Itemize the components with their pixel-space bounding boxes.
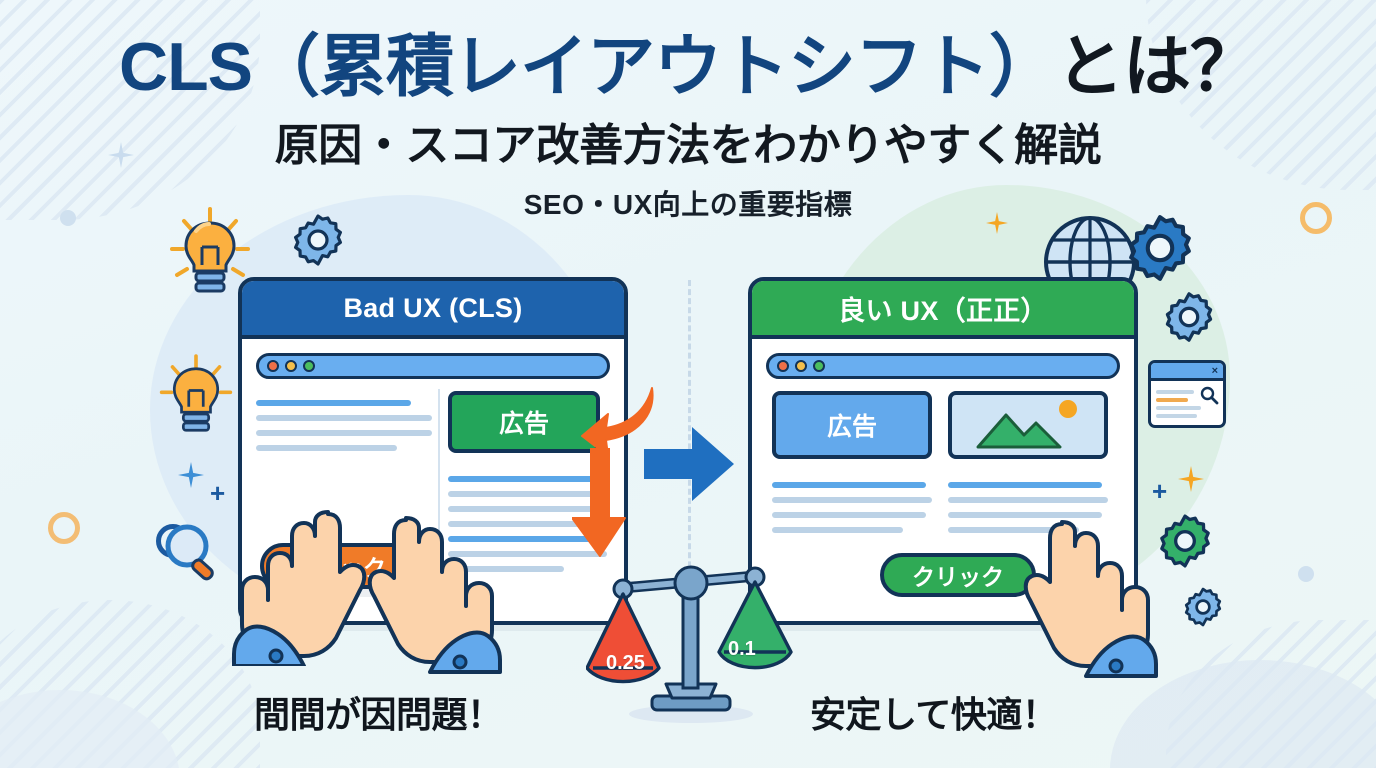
title-block: CLS（累積レイアウトシフト）とは？ 原因・スコア改善方法をわかりやすく解説 S… xyxy=(0,0,1376,223)
hand-pointer-icon xyxy=(1008,520,1158,685)
plus-icon: + xyxy=(1152,476,1167,507)
bad-ux-caption: 間間が因問題！ xyxy=(254,686,503,738)
lightbulb-icon xyxy=(158,352,234,443)
decor-ring-orange-bottom-left xyxy=(48,512,80,544)
text-line xyxy=(948,497,1108,503)
gear-icon xyxy=(1182,586,1224,633)
decor-dot-right xyxy=(1298,566,1314,582)
gear-icon xyxy=(1156,512,1214,575)
popup-text-line xyxy=(1156,390,1194,394)
plus-icon: + xyxy=(210,478,225,509)
window-maximize-dot-icon[interactable] xyxy=(303,360,315,372)
cls-bad-score: 0.25 xyxy=(606,652,645,675)
text-line xyxy=(256,415,432,421)
text-line xyxy=(772,497,932,503)
window-minimize-dot-icon[interactable] xyxy=(285,360,297,372)
hand-pointer-icon xyxy=(352,516,502,681)
popup-text-line xyxy=(1156,398,1188,402)
text-line xyxy=(948,482,1102,488)
gear-icon xyxy=(1124,212,1196,289)
ad-box-blue: 広告 xyxy=(772,391,932,459)
text-line xyxy=(772,512,926,518)
popup-titlebar: × xyxy=(1151,363,1223,381)
browser-urlbar[interactable] xyxy=(766,353,1120,379)
popup-content xyxy=(1151,381,1223,418)
sparkle-icon xyxy=(178,462,204,488)
good-ux-card-header: 良い UX（正正） xyxy=(752,281,1134,339)
good-ux-caption: 安定して快適！ xyxy=(810,686,1057,738)
window-close-dot-icon[interactable] xyxy=(267,360,279,372)
text-line xyxy=(772,482,926,488)
text-line xyxy=(256,400,411,406)
close-icon[interactable]: × xyxy=(1212,365,1218,377)
text-column-left xyxy=(256,391,432,451)
window-close-dot-icon[interactable] xyxy=(777,360,789,372)
window-maximize-dot-icon[interactable] xyxy=(813,360,825,372)
gear-icon xyxy=(1162,290,1216,349)
popup-text-line xyxy=(1156,406,1201,410)
text-line xyxy=(772,527,903,533)
page-title-highlight: CLS（累積レイアウトシフト） xyxy=(119,29,1056,105)
sparkle-icon xyxy=(1178,466,1204,492)
window-minimize-dot-icon[interactable] xyxy=(795,360,807,372)
page-title-tail: とは？ xyxy=(1056,29,1257,105)
cls-good-score: 0.1 xyxy=(728,638,756,661)
text-line xyxy=(256,445,397,451)
magnifier-icon xyxy=(158,518,228,593)
page-subtitle: 原因・スコア改善方法をわかりやすく解説 xyxy=(0,109,1376,173)
popup-text-line xyxy=(1156,414,1197,418)
text-line xyxy=(256,430,432,436)
arrow-right-icon xyxy=(644,425,736,508)
text-line xyxy=(948,512,1102,518)
balance-scale-icon: 0.25 0.1 xyxy=(586,556,796,731)
search-popup-window[interactable]: × xyxy=(1148,360,1226,428)
image-placeholder xyxy=(948,391,1108,459)
arrow-down-icon xyxy=(572,448,626,563)
bad-ux-card-header: Bad UX (CLS) xyxy=(242,281,624,339)
page-title: CLS（累積レイアウトシフト）とは？ xyxy=(0,32,1376,103)
image-icon xyxy=(952,395,1104,455)
text-column-left xyxy=(772,473,932,533)
poster-canvas: + + CLS（累積レイアウトシフト）とは？ 原因・スコア改善方法をわかりやすく… xyxy=(0,0,1376,768)
gear-icon xyxy=(290,212,346,273)
magnifier-icon[interactable] xyxy=(1199,385,1219,410)
browser-urlbar[interactable] xyxy=(256,353,610,379)
